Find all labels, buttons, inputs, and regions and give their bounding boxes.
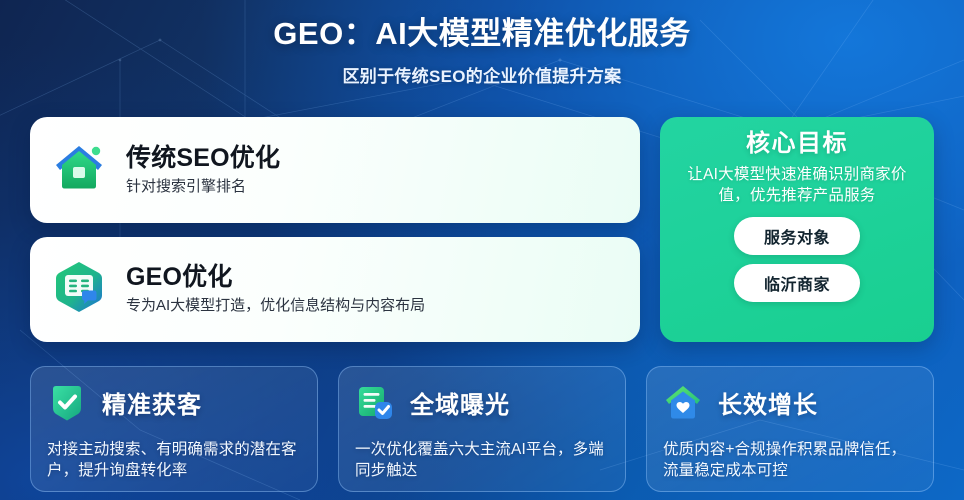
card-title: 全域曝光 bbox=[410, 394, 510, 418]
card-head: 精准获客 bbox=[47, 383, 301, 428]
core-goal-panel: 核心目标 让AI大模型快速准确识别商家价值，优先推荐产品服务 服务对象 临沂商家 bbox=[660, 117, 934, 342]
feature-cards-row: 精准获客 对接主动搜索、有明确需求的潜在客户，提升询盘转化率 bbox=[30, 366, 934, 492]
card-title: 精准获客 bbox=[102, 394, 202, 418]
feature-card-full-exposure[interactable]: 全域曝光 一次优化覆盖六大主流AI平台，多端同步触达 bbox=[338, 366, 626, 492]
pill-linyi-merchants[interactable]: 临沂商家 bbox=[734, 264, 860, 302]
page-subtitle: 区别于传统SEO的企业价值提升方案 bbox=[0, 62, 964, 87]
card-geo-optimization[interactable]: GEO优化 专为AI大模型打造，优化信息结构与内容布局 bbox=[30, 237, 640, 343]
page-title: GEO：AI大模型精准优化服务 bbox=[0, 16, 964, 53]
card-title: GEO优化 bbox=[126, 264, 425, 290]
card-desc: 专为AI大模型打造，优化信息结构与内容布局 bbox=[126, 297, 425, 314]
shield-check-icon bbox=[47, 383, 87, 428]
card-title: 长效增长 bbox=[718, 394, 818, 418]
card-head: 全域曝光 bbox=[355, 383, 609, 428]
card-text: GEO优化 专为AI大模型打造，优化信息结构与内容布局 bbox=[126, 264, 425, 315]
pill-service-target[interactable]: 服务对象 bbox=[734, 217, 860, 255]
house-heart-icon bbox=[663, 383, 703, 428]
geo-badge-icon bbox=[52, 260, 106, 319]
header: GEO：AI大模型精准优化服务 区别于传统SEO的企业价值提升方案 bbox=[0, 16, 964, 87]
feature-card-long-term-growth[interactable]: 长效增长 优质内容+合规操作积累品牌信任，流量稳定成本可控 bbox=[646, 366, 934, 492]
card-desc: 对接主动搜索、有明确需求的潜在客户，提升询盘转化率 bbox=[47, 439, 301, 482]
card-traditional-seo[interactable]: 传统SEO优化 针对搜索引擎排名 bbox=[30, 117, 640, 223]
card-text: 传统SEO优化 针对搜索引擎排名 bbox=[126, 145, 280, 196]
mid-section: 传统SEO优化 针对搜索引擎排名 bbox=[30, 117, 934, 342]
card-desc: 优质内容+合规操作积累品牌信任，流量稳定成本可控 bbox=[663, 439, 917, 482]
poster-canvas: GEO：AI大模型精准优化服务 区别于传统SEO的企业价值提升方案 bbox=[0, 0, 964, 500]
white-cards-column: 传统SEO优化 针对搜索引擎排名 bbox=[30, 117, 640, 342]
core-goal-title: 核心目标 bbox=[746, 131, 848, 157]
document-check-icon bbox=[355, 383, 395, 428]
house-icon bbox=[52, 140, 106, 199]
core-goal-pills: 服务对象 临沂商家 bbox=[674, 217, 920, 302]
card-desc: 一次优化覆盖六大主流AI平台，多端同步触达 bbox=[355, 439, 609, 482]
card-head: 长效增长 bbox=[663, 383, 917, 428]
core-goal-desc: 让AI大模型快速准确识别商家价值，优先推荐产品服务 bbox=[674, 165, 920, 206]
card-desc: 针对搜索引擎排名 bbox=[126, 178, 280, 195]
card-title: 传统SEO优化 bbox=[126, 145, 280, 171]
feature-card-precise-acquisition[interactable]: 精准获客 对接主动搜索、有明确需求的潜在客户，提升询盘转化率 bbox=[30, 366, 318, 492]
